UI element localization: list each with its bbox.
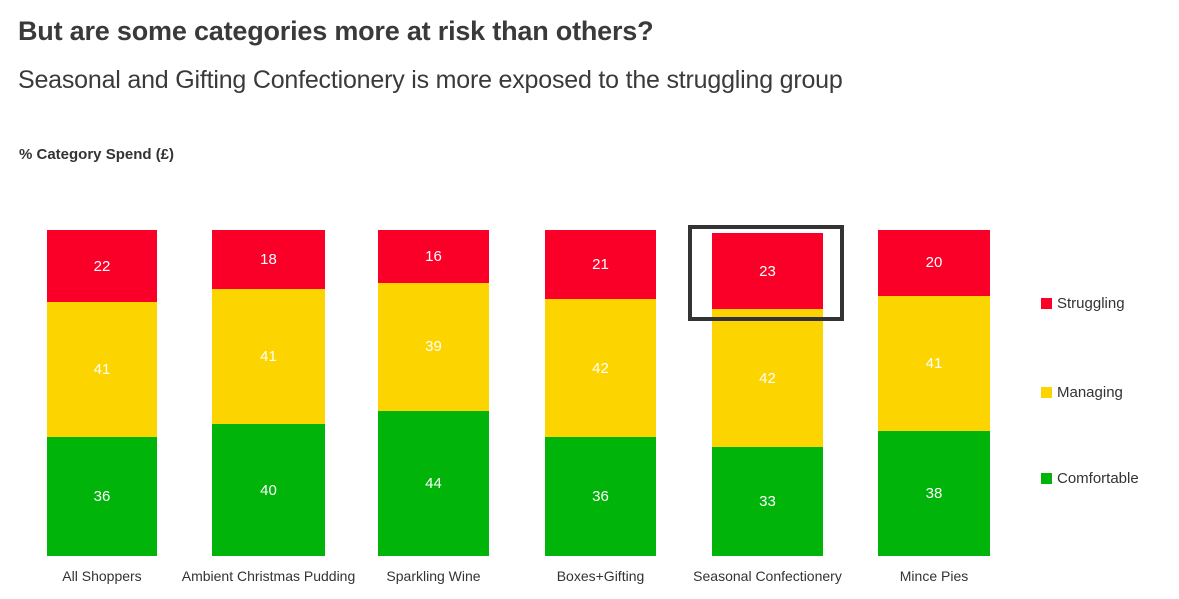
bar-segment-value: 40 bbox=[260, 483, 277, 498]
bar-segment-struggling[interactable]: 18 bbox=[212, 230, 325, 289]
chart-legend: StrugglingManagingComfortable bbox=[1041, 230, 1176, 556]
bar-segment-value: 41 bbox=[926, 356, 943, 371]
bar-segment-struggling[interactable]: 16 bbox=[378, 230, 489, 283]
bar-group[interactable]: 184140Ambient Christmas Pudding bbox=[212, 0, 325, 599]
bar-segment-struggling[interactable]: 22 bbox=[47, 230, 157, 302]
legend-label: Managing bbox=[1057, 385, 1123, 400]
bar-segment-struggling[interactable]: 21 bbox=[545, 230, 656, 299]
bar-segment-managing[interactable]: 41 bbox=[212, 289, 325, 424]
bar-segment-struggling[interactable]: 23 bbox=[712, 233, 823, 309]
bar-segment-value: 16 bbox=[425, 249, 442, 264]
bar-segment-comfortable[interactable]: 38 bbox=[878, 431, 990, 556]
legend-swatch-icon bbox=[1041, 387, 1052, 398]
bar-stack: 224136 bbox=[47, 230, 157, 556]
legend-swatch-icon bbox=[1041, 473, 1052, 484]
bar-segment-value: 20 bbox=[926, 255, 943, 270]
legend-item-comfortable[interactable]: Comfortable bbox=[1041, 471, 1139, 486]
bar-segment-managing[interactable]: 42 bbox=[712, 309, 823, 447]
bar-segment-value: 44 bbox=[425, 476, 442, 491]
bar-segment-value: 21 bbox=[592, 257, 609, 272]
stacked-bar-chart: 224136All Shoppers184140Ambient Christma… bbox=[0, 0, 1179, 599]
bar-segment-struggling[interactable]: 20 bbox=[878, 230, 990, 296]
category-axis-label: Ambient Christmas Pudding bbox=[182, 568, 356, 584]
bar-segment-comfortable[interactable]: 36 bbox=[47, 437, 157, 556]
bar-segment-comfortable[interactable]: 33 bbox=[712, 447, 823, 556]
bar-segment-value: 42 bbox=[592, 361, 609, 376]
legend-label: Comfortable bbox=[1057, 471, 1139, 486]
bar-group[interactable]: 163944Sparkling Wine bbox=[378, 0, 489, 599]
legend-swatch-icon bbox=[1041, 298, 1052, 309]
category-axis-label: Mince Pies bbox=[900, 568, 968, 584]
bar-segment-value: 36 bbox=[592, 489, 609, 504]
category-axis-label: All Shoppers bbox=[62, 568, 141, 584]
bar-segment-value: 42 bbox=[759, 371, 776, 386]
legend-item-struggling[interactable]: Struggling bbox=[1041, 296, 1125, 311]
bar-segment-value: 23 bbox=[759, 264, 776, 279]
legend-label: Struggling bbox=[1057, 296, 1125, 311]
bar-stack: 163944 bbox=[378, 230, 489, 556]
bar-stack: 204138 bbox=[878, 230, 990, 556]
bar-segment-value: 33 bbox=[759, 494, 776, 509]
bar-segment-managing[interactable]: 39 bbox=[378, 283, 489, 411]
category-axis-label: Boxes+Gifting bbox=[557, 568, 645, 584]
bar-segment-value: 41 bbox=[94, 362, 111, 377]
bar-segment-value: 18 bbox=[260, 252, 277, 267]
bar-segment-comfortable[interactable]: 44 bbox=[378, 411, 489, 556]
bar-segment-value: 36 bbox=[94, 489, 111, 504]
bar-segment-comfortable[interactable]: 40 bbox=[212, 424, 325, 556]
bar-group[interactable]: 234233Seasonal Confectionery bbox=[712, 0, 823, 599]
bar-segment-value: 39 bbox=[425, 339, 442, 354]
bar-stack: 214236 bbox=[545, 230, 656, 556]
bar-segment-value: 22 bbox=[94, 259, 111, 274]
bar-group[interactable]: 224136All Shoppers bbox=[47, 0, 157, 599]
bar-segment-managing[interactable]: 41 bbox=[47, 302, 157, 437]
bar-segment-managing[interactable]: 41 bbox=[878, 296, 990, 431]
bar-segment-value: 41 bbox=[260, 349, 277, 364]
bar-group[interactable]: 204138Mince Pies bbox=[878, 0, 990, 599]
bar-stack: 184140 bbox=[212, 230, 325, 556]
category-axis-label: Seasonal Confectionery bbox=[693, 568, 842, 584]
category-axis-label: Sparkling Wine bbox=[386, 568, 480, 584]
legend-item-managing[interactable]: Managing bbox=[1041, 385, 1123, 400]
bar-group[interactable]: 214236Boxes+Gifting bbox=[545, 0, 656, 599]
bar-segment-value: 38 bbox=[926, 486, 943, 501]
bar-segment-comfortable[interactable]: 36 bbox=[545, 437, 656, 556]
slide-root: But are some categories more at risk tha… bbox=[0, 0, 1179, 599]
bar-stack: 234233 bbox=[712, 233, 823, 556]
bar-segment-managing[interactable]: 42 bbox=[545, 299, 656, 437]
